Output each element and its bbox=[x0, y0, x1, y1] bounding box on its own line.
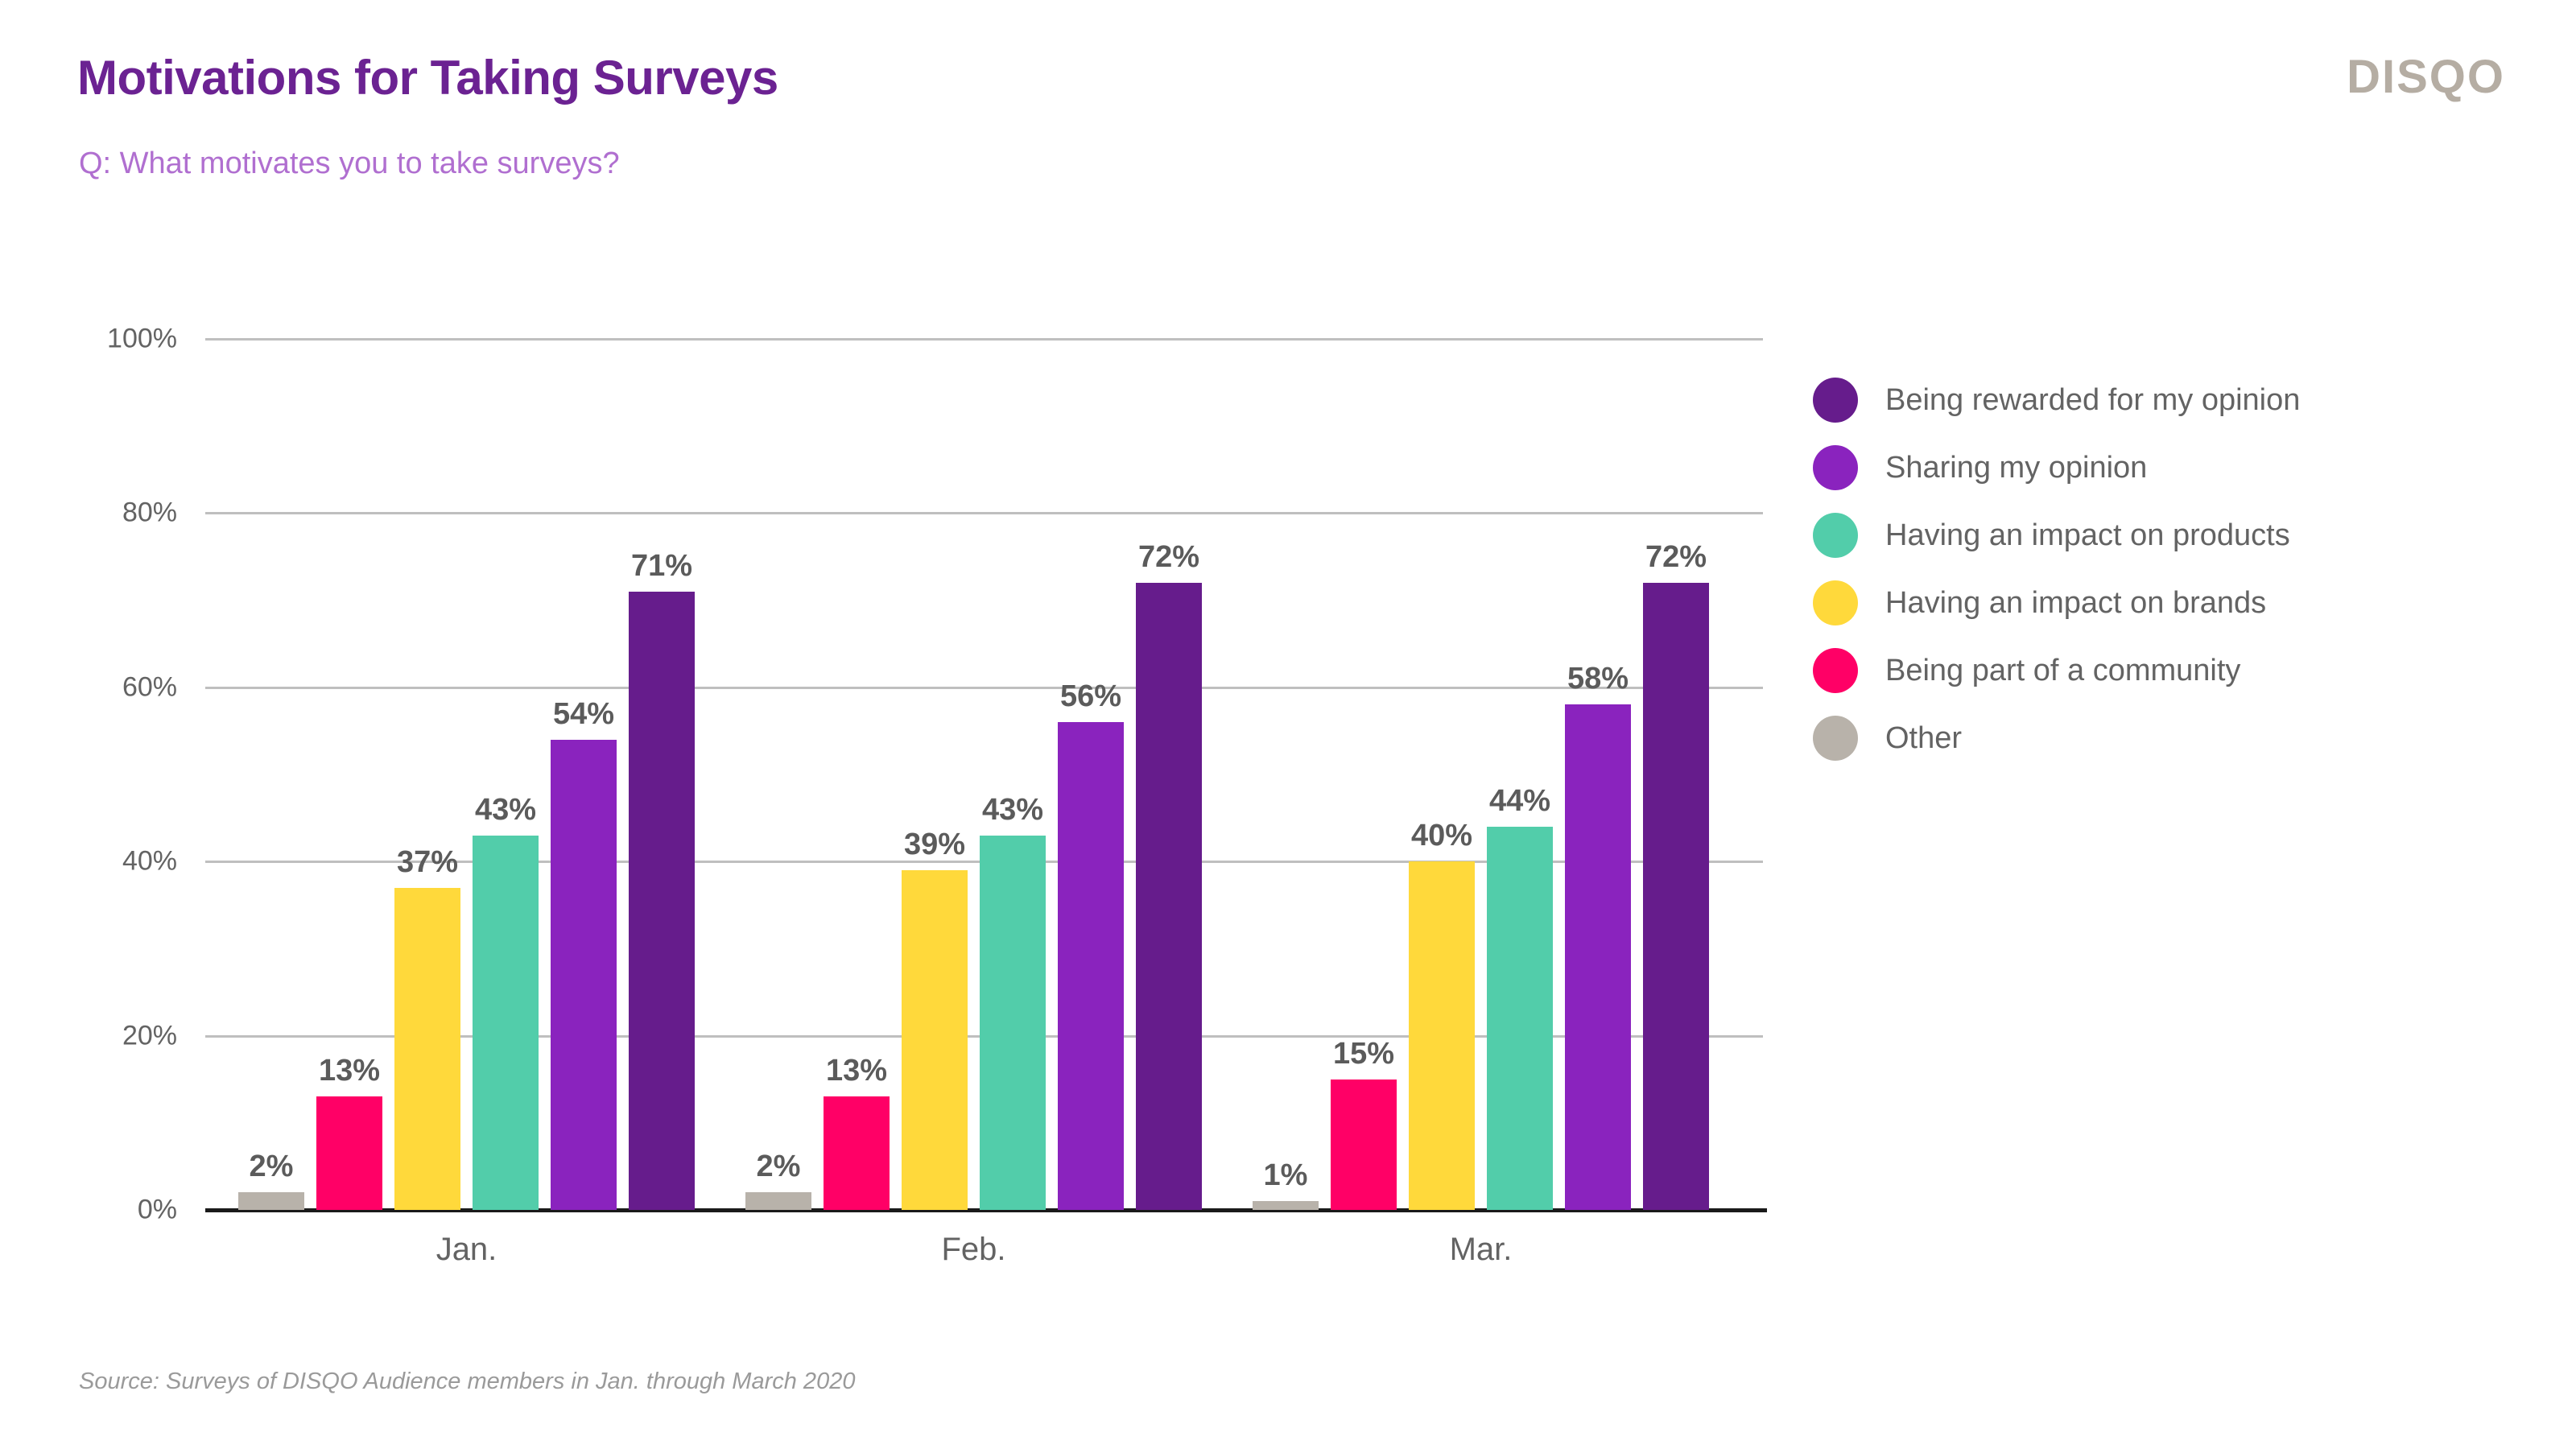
legend-item[interactable]: Being rewarded for my opinion bbox=[1813, 366, 2300, 434]
bar[interactable] bbox=[1643, 583, 1709, 1210]
bar[interactable] bbox=[1253, 1201, 1319, 1210]
bar[interactable] bbox=[394, 888, 460, 1210]
bar[interactable] bbox=[238, 1192, 304, 1210]
y-axis-tick-label: 20% bbox=[48, 1020, 177, 1051]
bar-value-label: 15% bbox=[1303, 1037, 1424, 1071]
x-axis-tick-label: Feb. bbox=[813, 1232, 1135, 1268]
legend-swatch-icon bbox=[1813, 648, 1858, 693]
bar[interactable] bbox=[1565, 704, 1631, 1210]
bar[interactable] bbox=[902, 870, 968, 1210]
bar-value-label: 54% bbox=[523, 697, 644, 732]
legend-item-label: Sharing my opinion bbox=[1885, 451, 2147, 485]
y-axis-tick-label: 100% bbox=[48, 324, 177, 355]
bar-value-label: 71% bbox=[601, 549, 722, 584]
y-axis-tick-label: 40% bbox=[48, 846, 177, 877]
bar[interactable] bbox=[824, 1096, 890, 1210]
bar[interactable] bbox=[745, 1192, 811, 1210]
bar-value-label: 44% bbox=[1459, 784, 1580, 819]
y-axis-tick-label: 60% bbox=[48, 671, 177, 703]
legend-swatch-icon bbox=[1813, 378, 1858, 423]
y-axis-tick-label: 80% bbox=[48, 497, 177, 529]
bar-value-label: 37% bbox=[367, 845, 488, 880]
bar[interactable] bbox=[1136, 583, 1202, 1210]
legend-item-label: Being rewarded for my opinion bbox=[1885, 383, 2300, 418]
bar-value-label: 2% bbox=[718, 1150, 839, 1184]
bar-value-label: 13% bbox=[289, 1054, 410, 1088]
bar-group: 2%13%37%43%54%71% bbox=[238, 0, 695, 1210]
bar-group: 2%13%39%43%56%72% bbox=[745, 0, 1202, 1210]
legend-item-label: Other bbox=[1885, 721, 1962, 756]
bar[interactable] bbox=[551, 740, 617, 1210]
legend-item[interactable]: Having an impact on brands bbox=[1813, 569, 2300, 637]
legend-item[interactable]: Having an impact on products bbox=[1813, 502, 2300, 569]
legend-item-label: Having an impact on products bbox=[1885, 518, 2290, 553]
x-axis-tick-label: Jan. bbox=[306, 1232, 628, 1268]
legend-item-label: Being part of a community bbox=[1885, 654, 2240, 688]
legend-swatch-icon bbox=[1813, 445, 1858, 490]
bar-value-label: 72% bbox=[1108, 540, 1229, 575]
bar-value-label: 39% bbox=[874, 828, 995, 862]
y-axis-tick-label: 0% bbox=[48, 1195, 177, 1226]
legend-item-label: Having an impact on brands bbox=[1885, 586, 2266, 621]
bar[interactable] bbox=[1331, 1080, 1397, 1210]
x-axis-tick-label: Mar. bbox=[1320, 1232, 1642, 1268]
bar-value-label: 43% bbox=[445, 793, 566, 828]
legend-item[interactable]: Being part of a community bbox=[1813, 637, 2300, 704]
source-note: Source: Surveys of DISQO Audience member… bbox=[79, 1368, 855, 1395]
bar[interactable] bbox=[980, 836, 1046, 1210]
bar-value-label: 56% bbox=[1030, 679, 1151, 714]
bar-value-label: 1% bbox=[1225, 1158, 1346, 1193]
chart-legend: Being rewarded for my opinionSharing my … bbox=[1813, 366, 2300, 772]
legend-swatch-icon bbox=[1813, 716, 1858, 761]
bar[interactable] bbox=[1058, 722, 1124, 1210]
bar[interactable] bbox=[1409, 861, 1475, 1210]
legend-item[interactable]: Other bbox=[1813, 704, 2300, 772]
bar-value-label: 40% bbox=[1381, 819, 1502, 853]
bar[interactable] bbox=[1487, 827, 1553, 1210]
bar-value-label: 58% bbox=[1538, 662, 1658, 696]
bar[interactable] bbox=[473, 836, 539, 1210]
bar[interactable] bbox=[316, 1096, 382, 1210]
bar-value-label: 43% bbox=[952, 793, 1073, 828]
bar-value-label: 13% bbox=[796, 1054, 917, 1088]
legend-item[interactable]: Sharing my opinion bbox=[1813, 434, 2300, 502]
bar[interactable] bbox=[629, 592, 695, 1210]
bar-value-label: 72% bbox=[1616, 540, 1736, 575]
legend-swatch-icon bbox=[1813, 580, 1858, 625]
legend-swatch-icon bbox=[1813, 513, 1858, 558]
bar-group: 1%15%40%44%58%72% bbox=[1253, 0, 1709, 1210]
bar-value-label: 2% bbox=[211, 1150, 332, 1184]
